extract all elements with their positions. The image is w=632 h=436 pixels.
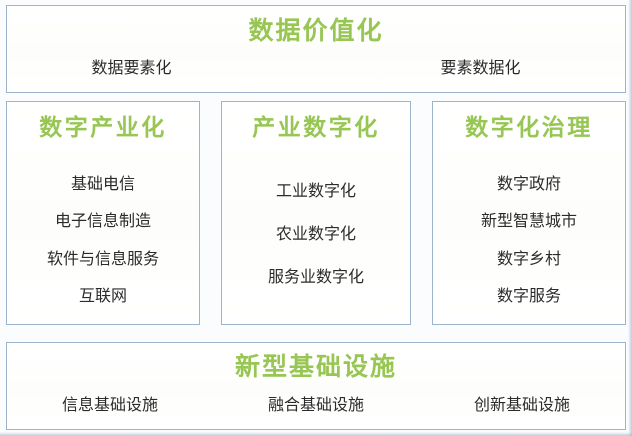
item-factor-datafication: 要素数据化 — [316, 61, 625, 77]
item-agricultural-digitalization: 农业数字化 — [222, 213, 410, 256]
item-digital-government: 数字政府 — [433, 166, 625, 204]
section-new-infrastructure: 新型基础设施 信息基础设施 融合基础设施 创新基础设施 — [6, 342, 626, 430]
item-innovation-infrastructure: 创新基础设施 — [419, 398, 625, 414]
section-title-digital-governance: 数字化治理 — [433, 116, 625, 139]
item-electronic-information-manufacturing: 电子信息制造 — [7, 204, 199, 242]
section-data-valorization: 数据价值化 数据要素化 要素数据化 — [6, 5, 626, 93]
item-service-digitalization: 服务业数字化 — [222, 257, 410, 300]
digital-economy-framework-diagram: 数据价值化 数据要素化 要素数据化 数字产业化 基础电信 电子信息制造 软件与信… — [0, 0, 632, 436]
item-basic-telecom: 基础电信 — [7, 166, 199, 204]
section-items-industrial-digitalization: 工业数字化 农业数字化 服务业数字化 — [222, 170, 410, 300]
item-software-and-information-services: 软件与信息服务 — [7, 241, 199, 279]
section-title-data-valorization: 数据价值化 — [7, 19, 625, 44]
section-industrial-digitalization: 产业数字化 工业数字化 农业数字化 服务业数字化 — [221, 101, 411, 325]
item-information-infrastructure: 信息基础设施 — [7, 398, 213, 414]
section-items-digital-industrialization: 基础电信 电子信息制造 软件与信息服务 互联网 — [7, 166, 199, 316]
item-new-smart-city: 新型智慧城市 — [433, 204, 625, 242]
section-title-industrial-digitalization: 产业数字化 — [222, 116, 410, 139]
item-industrial-digitalization: 工业数字化 — [222, 170, 410, 213]
item-digital-countryside: 数字乡村 — [433, 241, 625, 279]
section-title-digital-industrialization: 数字产业化 — [7, 116, 199, 139]
section-title-new-infrastructure: 新型基础设施 — [7, 355, 625, 380]
section-items-digital-governance: 数字政府 新型智慧城市 数字乡村 数字服务 — [433, 166, 625, 316]
item-internet: 互联网 — [7, 279, 199, 317]
section-items-new-infrastructure: 信息基础设施 融合基础设施 创新基础设施 — [7, 398, 625, 414]
section-digital-governance: 数字化治理 数字政府 新型智慧城市 数字乡村 数字服务 — [432, 101, 626, 325]
section-digital-industrialization: 数字产业化 基础电信 电子信息制造 软件与信息服务 互联网 — [6, 101, 200, 325]
item-converged-infrastructure: 融合基础设施 — [213, 398, 419, 414]
item-digital-services: 数字服务 — [433, 279, 625, 317]
item-data-factorization: 数据要素化 — [7, 61, 316, 77]
section-items-data-valorization: 数据要素化 要素数据化 — [7, 61, 625, 77]
edge-shadow-bottom — [0, 432, 632, 436]
edge-shadow-right — [628, 0, 632, 436]
